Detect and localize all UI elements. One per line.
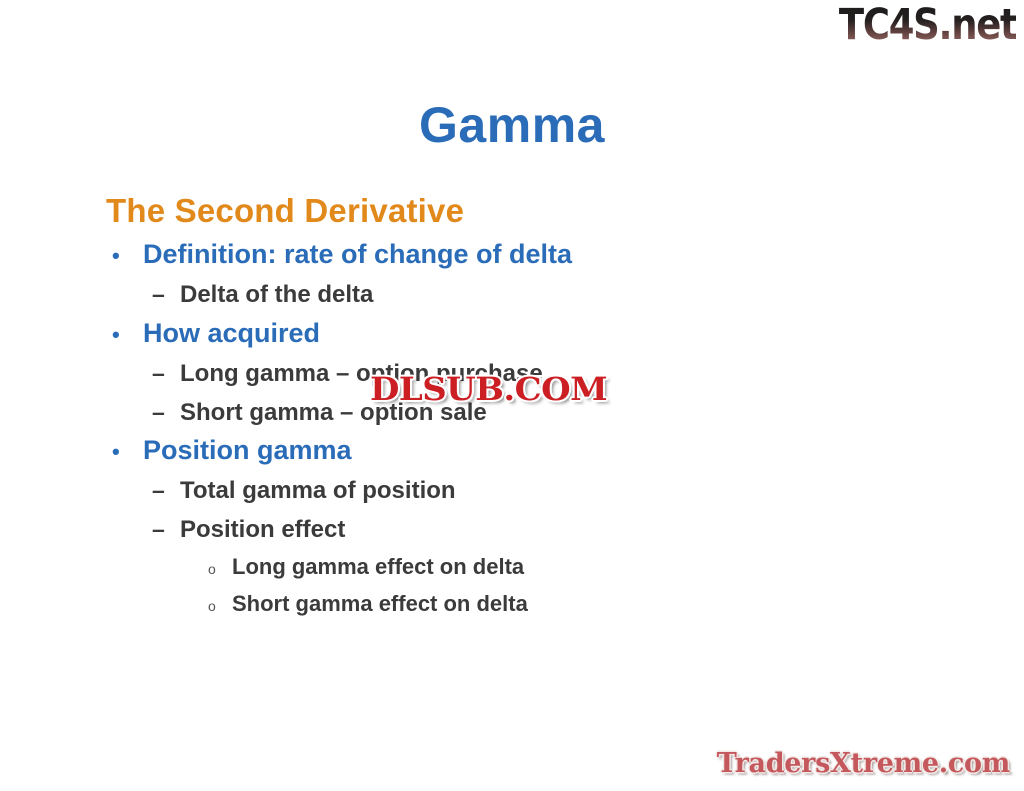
bullet-level1: • Position gamma — [106, 435, 946, 466]
section-heading: The Second Derivative — [106, 192, 946, 230]
bullet-text: Short gamma – option sale — [180, 399, 487, 427]
bullet-level1: • How acquired — [106, 318, 946, 349]
bullet-level2: – Long gamma – option purchase — [106, 360, 946, 388]
bullet-level2: – Position effect — [106, 516, 946, 544]
bullet-text: Total gamma of position — [180, 477, 456, 505]
bullet-dot-icon: • — [112, 324, 143, 346]
bullet-dash-icon: – — [152, 401, 180, 424]
bullet-dash-icon: – — [152, 479, 180, 502]
bullet-text: Long gamma – option purchase — [180, 360, 543, 388]
bullet-level3: o Long gamma effect on delta — [106, 554, 946, 579]
bullet-level2: – Total gamma of position — [106, 477, 946, 505]
tc4s-brand-logo: TC4S.net — [838, 4, 1016, 47]
bullet-level1: • Definition: rate of change of delta — [106, 239, 946, 270]
bullet-text: How acquired — [143, 318, 320, 349]
bullet-circle-icon: o — [208, 562, 232, 576]
bullet-text: Position gamma — [143, 435, 352, 466]
bullet-dot-icon: • — [112, 245, 143, 267]
bullet-text: Definition: rate of change of delta — [143, 239, 572, 270]
bullet-dash-icon: – — [152, 283, 180, 306]
bullet-text: Position effect — [180, 516, 345, 544]
bullet-dash-icon: – — [152, 518, 180, 541]
bullet-circle-icon: o — [208, 599, 232, 613]
bullet-text: Long gamma effect on delta — [232, 554, 524, 579]
bullet-level3: o Short gamma effect on delta — [106, 591, 946, 616]
bullet-text: Delta of the delta — [180, 281, 373, 309]
page-title: Gamma — [0, 99, 1024, 152]
bullet-text: Short gamma effect on delta — [232, 591, 528, 616]
slide-body: The Second Derivative • Definition: rate… — [106, 192, 946, 616]
tradersxtreme-footer-brand: TradersXtreme.com — [717, 748, 1010, 779]
bullet-dot-icon: • — [112, 441, 143, 463]
bullet-level2: – Short gamma – option sale — [106, 399, 946, 427]
presentation-slide: TC4S.net Gamma The Second Derivative • D… — [0, 0, 1024, 791]
bullet-level2: – Delta of the delta — [106, 281, 946, 309]
bullet-dash-icon: – — [152, 362, 180, 385]
